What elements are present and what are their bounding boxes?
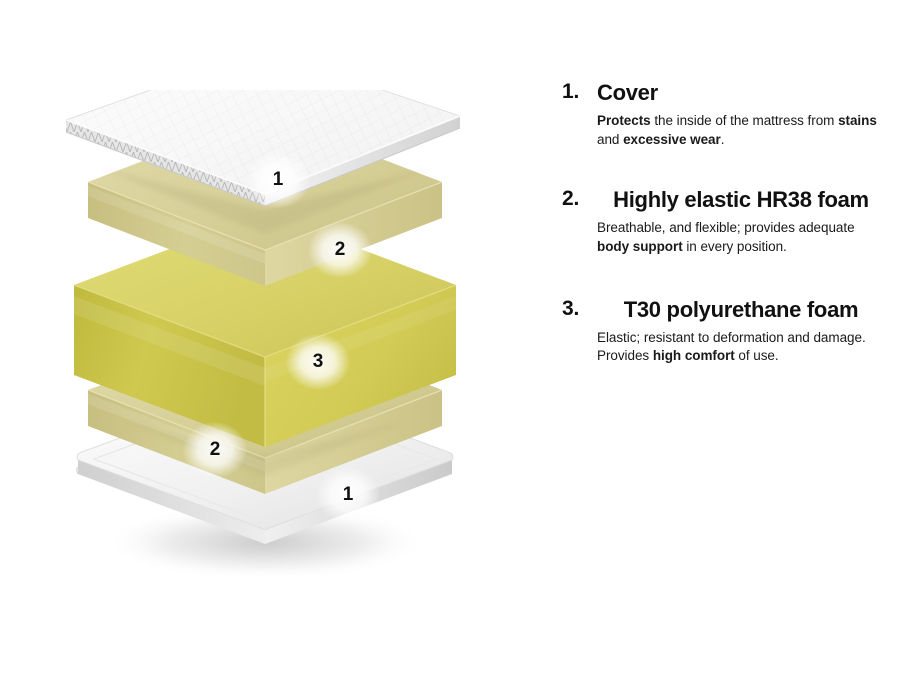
- mattress-layers-svg: [60, 90, 500, 590]
- mattress-exploded-view: 1 2 3 2 1: [60, 90, 500, 590]
- legend-body-1: Protects the inside of the mattress from…: [597, 112, 885, 149]
- diagram-canvas: 1 2 3 2 1 1. Cover Protects the inside o…: [0, 0, 900, 675]
- legend-item-t30-foam: 3. T30 polyurethane foam Elastic; resist…: [555, 297, 885, 366]
- legend-item-cover: 1. Cover Protects the inside of the matt…: [555, 80, 885, 149]
- legend-number-2: 2.: [562, 187, 579, 211]
- legend-number-3: 3.: [562, 297, 579, 321]
- legend-body-2: Breathable, and flexible; provides adequ…: [597, 219, 885, 256]
- legend-body-3: Elastic; resistant to deformation and da…: [597, 329, 885, 366]
- legend-heading-2: Highly elastic HR38 foam: [597, 187, 885, 212]
- legend-heading-1: Cover: [597, 80, 885, 105]
- legend-number-1: 1.: [562, 80, 579, 104]
- legend-item-hr38-foam: 2. Highly elastic HR38 foam Breathable, …: [555, 187, 885, 256]
- legend-list: 1. Cover Protects the inside of the matt…: [555, 80, 885, 390]
- legend-heading-3: T30 polyurethane foam: [597, 297, 885, 322]
